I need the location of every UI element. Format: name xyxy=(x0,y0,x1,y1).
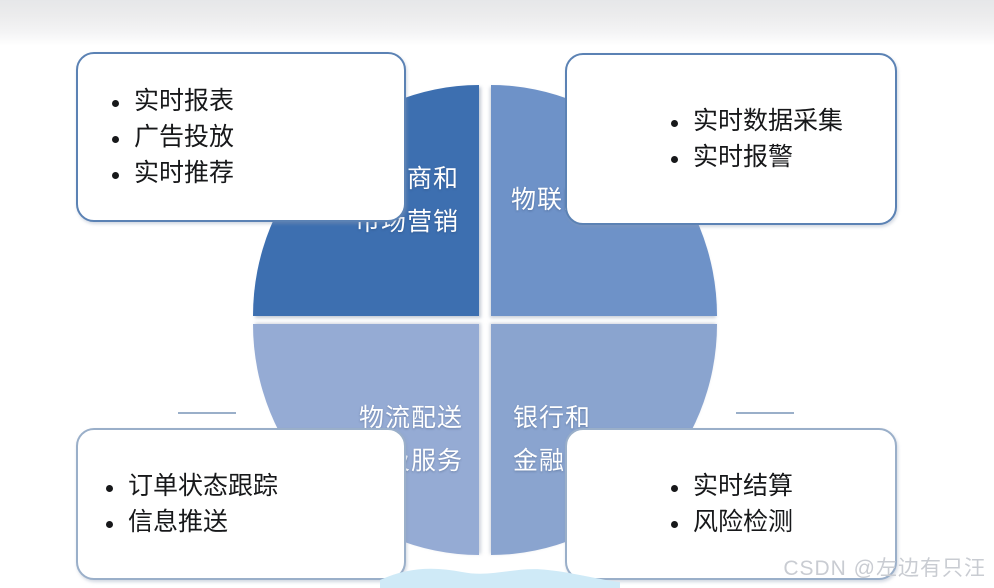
connector-left-lower xyxy=(178,412,236,414)
connector-right-lower xyxy=(736,412,794,414)
top-gradient-band xyxy=(0,0,994,46)
list-item: 实时报表 xyxy=(104,89,404,114)
list-item: 信息推送 xyxy=(98,510,404,535)
callout-iot[interactable]: 实时数据采集 实时报警 xyxy=(565,53,897,225)
list-item: 订单状态跟踪 xyxy=(98,474,404,499)
list-item: 广告投放 xyxy=(104,125,404,150)
diagram-canvas: 电商和 市场营销 物联网 物流配送 及服务 银行和 金融业 实时报表 广告投放 … xyxy=(0,0,994,588)
callout-list: 实时数据采集 实时报警 xyxy=(567,98,895,181)
quadrant-label-line-1: 物流配送 xyxy=(359,406,463,431)
callout-banking-finance[interactable]: 实时结算 风险检测 xyxy=(565,428,897,580)
callout-list: 实时结算 风险检测 xyxy=(567,463,895,546)
quadrant-label-line-1: 银行和 xyxy=(513,406,591,431)
list-item: 实时推荐 xyxy=(104,161,404,186)
list-item: 实时数据采集 xyxy=(663,109,895,134)
callout-ecommerce-marketing[interactable]: 实时报表 广告投放 实时推荐 xyxy=(76,52,406,222)
list-item: 风险检测 xyxy=(663,510,895,535)
callout-list: 实时报表 广告投放 实时推荐 xyxy=(78,78,404,197)
callout-logistics-service[interactable]: 订单状态跟踪 信息推送 xyxy=(76,428,406,580)
callout-list: 订单状态跟踪 信息推送 xyxy=(78,463,404,546)
list-item: 实时报警 xyxy=(663,145,895,170)
list-item: 实时结算 xyxy=(663,474,895,499)
